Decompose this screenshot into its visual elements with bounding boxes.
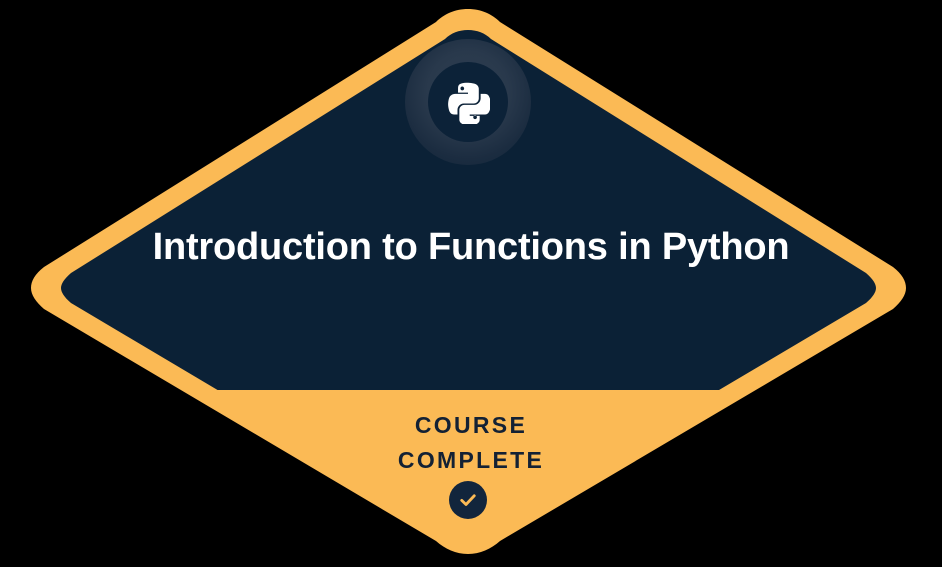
course-completion-badge: Introduction to Functions in Python COUR… [0, 0, 942, 567]
badge-diamond-shape [0, 0, 942, 567]
